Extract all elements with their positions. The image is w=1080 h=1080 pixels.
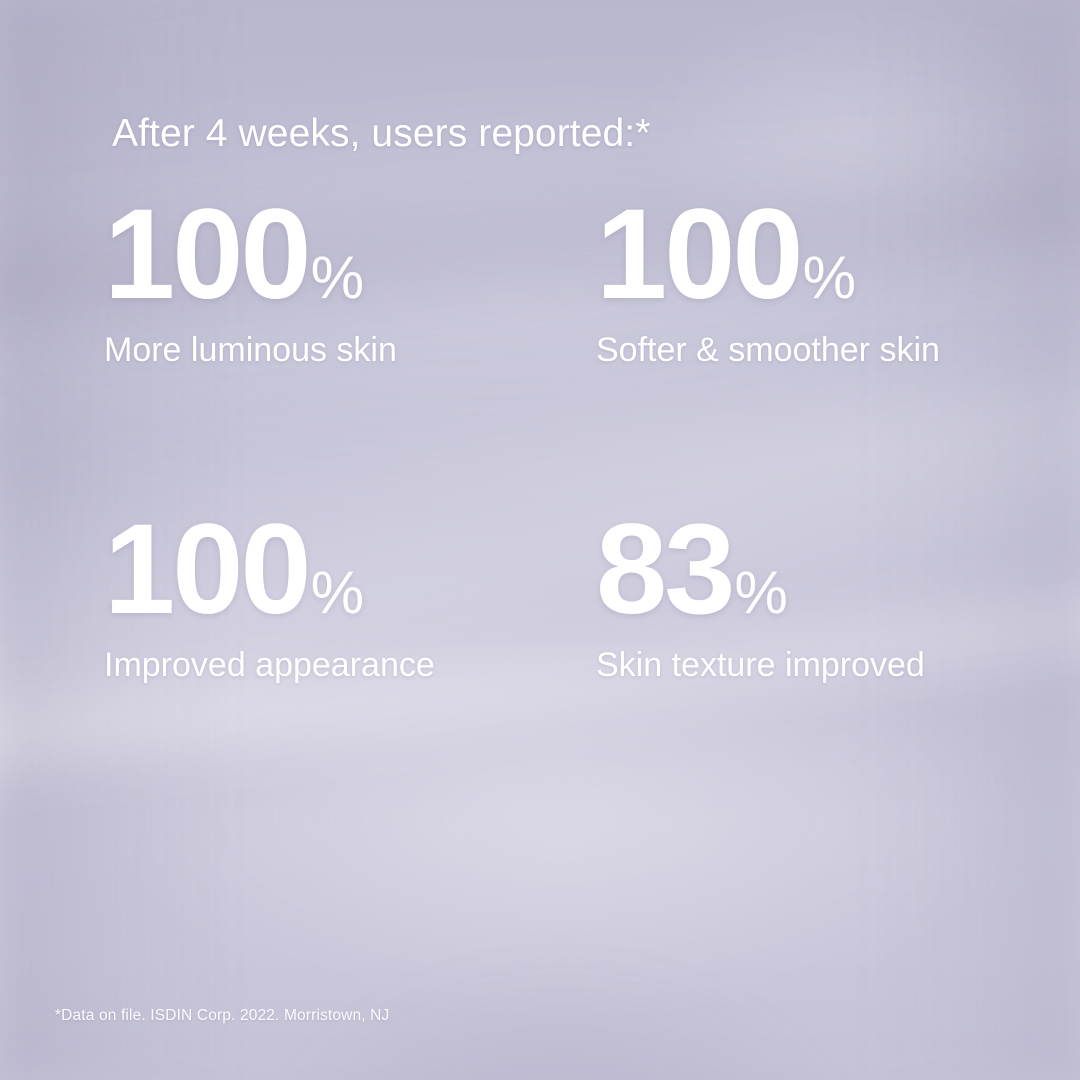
stat-block-skin-texture-improved: 83% Skin texture improved [596, 511, 1026, 688]
stat-value: 100% [596, 196, 1026, 314]
stat-block-softer-smoother-skin: 100% Softer & smoother skin [596, 196, 1026, 373]
percent-symbol: % [803, 244, 856, 311]
stat-grid: 100% More luminous skin 100% Softer & sm… [0, 196, 1080, 826]
card-content: After 4 weeks, users reported:* 100% Mor… [0, 0, 1080, 1080]
page-title: After 4 weeks, users reported:* [112, 112, 651, 156]
stat-label: Improved appearance [104, 643, 474, 688]
stat-label: Skin texture improved [596, 643, 966, 688]
percent-symbol: % [311, 559, 364, 626]
stat-row-2: 100% Improved appearance 83% Skin textur… [0, 511, 1080, 826]
stat-label: More luminous skin [104, 328, 474, 373]
stat-number: 100 [596, 183, 801, 326]
footnote-source: *Data on file. ISDIN Corp. 2022. Morrist… [55, 1007, 389, 1025]
stat-value: 100% [104, 196, 534, 314]
stat-number: 100 [104, 183, 309, 326]
stat-block-improved-appearance: 100% Improved appearance [104, 511, 534, 688]
stat-value: 83% [596, 511, 1026, 629]
stat-number: 83 [596, 498, 732, 641]
results-card: After 4 weeks, users reported:* 100% Mor… [0, 0, 1080, 1080]
stat-row-1: 100% More luminous skin 100% Softer & sm… [0, 196, 1080, 511]
stat-block-more-luminous-skin: 100% More luminous skin [104, 196, 534, 373]
stat-label: Softer & smoother skin [596, 328, 966, 373]
stat-number: 100 [104, 498, 309, 641]
stat-value: 100% [104, 511, 534, 629]
percent-symbol: % [734, 559, 787, 626]
percent-symbol: % [311, 244, 364, 311]
